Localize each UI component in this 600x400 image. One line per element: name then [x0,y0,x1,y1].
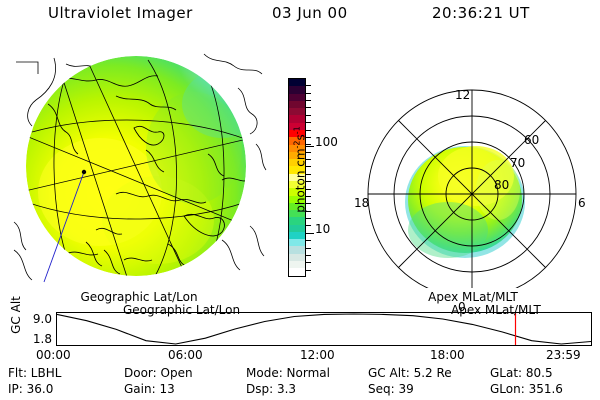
geographic-panel-title: Geographic Lat/Lon [8,290,270,304]
colorbar-axis-label-exp2: -1 [293,126,302,134]
status-filter: Flt: LBHL [8,366,61,380]
colorbar-band-25 [289,261,305,268]
geographic-image-panel[interactable]: Geographic Lat/Lon [8,44,270,302]
time-tick-4: 23:59 [546,348,581,362]
time-tick-0: 00:00 [36,348,71,362]
polar-grid [368,90,576,288]
status-glat: GLat: 80.5 [490,366,553,380]
observation-time: 20:36:21 UT [432,4,530,22]
header-bar: Ultraviolet Imager 03 Jun 00 20:36:21 UT [0,4,600,30]
orbit-plot-box[interactable]: Geographic Lat/Lon Apex MLat/MLT [56,312,592,346]
status-ip: IP: 36.0 [8,382,53,396]
colorbar-legend: 100 10 photon cm-2s-1 [286,74,350,284]
colorbar-axis-label: photon cm-2s-1 [293,80,308,260]
mlat-label-60: 60 [524,133,539,147]
time-tick-2: 12:00 [300,348,335,362]
page-title: Ultraviolet Imager [48,4,193,22]
colorbar-axis-label-exp1: -2 [293,140,302,148]
orbit-title-geographic: Geographic Lat/Lon [123,303,240,317]
mlat-label-80: 80 [494,178,509,192]
colorbar-minor-tick [306,270,311,271]
status-glon: GLon: 351.6 [490,382,563,396]
pole-marker [82,170,86,174]
mlat-label-70: 70 [510,156,525,170]
orbit-y-tick-low: 1.8 [16,332,52,346]
aurora-oval-region [405,146,525,258]
status-mode: Mode: Normal [246,366,330,380]
status-dsp: Dsp: 3.3 [246,382,296,396]
observation-date: 03 Jun 00 [272,4,348,22]
colorbar-tick-label-100: 100 [315,137,338,147]
mlt-label-6: 6 [578,196,586,210]
mlt-label-12: 12 [455,88,470,102]
orbit-altitude-strip[interactable]: GC Alt 9.0 1.8 Geographic Lat/Lon Apex M… [8,306,592,346]
status-block: Flt: LBHL IP: 36.0 Door: Open Gain: 13 M… [0,366,600,400]
colorbar-minor-tick [306,262,311,263]
time-tick-3: 18:00 [430,348,465,362]
geographic-globe-plot [8,44,270,288]
apex-polar-plot [348,44,598,288]
colorbar-axis-label-main: photon cm [294,148,308,212]
time-tick-1: 06:00 [168,348,203,362]
status-seq: Seq: 39 [368,382,414,396]
time-axis: 00:00 06:00 12:00 18:00 23:59 [0,348,600,364]
status-door: Door: Open [124,366,193,380]
status-gain: Gain: 13 [124,382,175,396]
orbit-y-tick-high: 9.0 [16,312,52,326]
apex-polar-panel[interactable]: 12 6 0 18 60 70 80 Apex MLat/MLT [348,44,598,302]
colorbar-band-26 [289,268,305,275]
mlt-label-18: 18 [354,196,369,210]
colorbar-axis-label-mid: s [294,134,308,140]
apex-panel-title: Apex MLat/MLT [348,290,598,304]
orbit-altitude-curve [57,313,591,345]
status-gc-alt: GC Alt: 5.2 Re [368,366,452,380]
colorbar-tick-label-10: 10 [315,224,330,234]
orbit-title-apex: Apex MLat/MLT [451,303,541,317]
